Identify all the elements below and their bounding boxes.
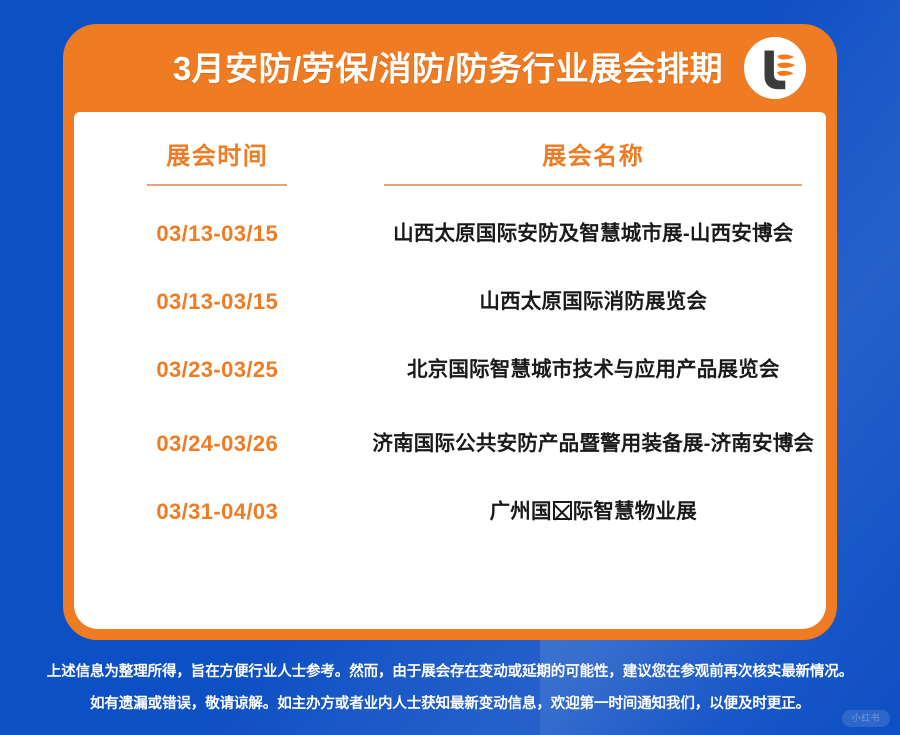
cell-date: 03/13-03/15 bbox=[74, 271, 361, 333]
table-row: 03/23-03/25 北京国际智慧城市技术与应用产品展览会 bbox=[74, 333, 826, 407]
cell-name: 山西太原国际安防及智慧城市展-山西安博会 bbox=[361, 197, 827, 271]
watermark: 小红书 bbox=[842, 710, 890, 727]
cell-name: 济南国际公共安防产品暨警用装备展-济南安博会 bbox=[361, 407, 827, 481]
footer-line-1: 上述信息为整理所得，旨在方便行业人士参考。然而，由于展会存在变动或延期的可能性，… bbox=[10, 665, 890, 681]
table-row: 03/13-03/15 山西太原国际消防展览会 bbox=[74, 271, 826, 333]
cell-name-text: 山西太原国际安防及智慧城市展-山西安博会 bbox=[393, 222, 793, 245]
page-title: 3月安防/劳保/消防/防务行业展会排期 bbox=[173, 52, 723, 85]
schedule-card: 3月安防/劳保/消防/防务行业展会排期 bbox=[63, 24, 837, 640]
column-header-name-label: 展会名称 bbox=[361, 142, 827, 172]
cell-date: 03/23-03/25 bbox=[74, 333, 361, 407]
schedule-table-body: 03/13-03/15 山西太原国际安防及智慧城市展-山西安博会 03/13-0… bbox=[74, 197, 826, 543]
cell-date: 03/31-04/03 bbox=[74, 481, 361, 543]
column-header-name: 展会名称 bbox=[361, 112, 827, 197]
schedule-table-head: 展会时间 展会名称 bbox=[74, 112, 826, 197]
cell-name: 广州国际智慧物业展 bbox=[361, 481, 827, 543]
cell-name-text: 北京国际智慧城市技术与应用产品展览会 bbox=[407, 358, 780, 381]
card-header: 3月安防/劳保/消防/防务行业展会排期 bbox=[74, 24, 826, 112]
cell-name: 山西太原国际消防展览会 bbox=[361, 271, 827, 333]
cell-date: 03/24-03/26 bbox=[74, 407, 361, 481]
schedule-panel: 展会时间 展会名称 03/ bbox=[74, 112, 826, 629]
cell-name-text: 济南国际公共安防产品暨警用装备展-济南安博会 bbox=[372, 432, 814, 455]
footer-line-2: 如有遗漏或错误，敬请谅解。如主办方或者业内人士获知最新变动信息，欢迎第一时间通知… bbox=[10, 697, 890, 713]
column-header-name-rule bbox=[384, 184, 802, 186]
column-header-date-rule bbox=[147, 184, 287, 186]
missing-glyph-box bbox=[553, 501, 572, 520]
cell-date: 03/13-03/15 bbox=[74, 197, 361, 271]
table-row: 03/13-03/15 山西太原国际安防及智慧城市展-山西安博会 bbox=[74, 197, 826, 271]
cell-name-text: 山西太原国际消防展览会 bbox=[479, 290, 707, 313]
table-header-row: 展会时间 展会名称 bbox=[74, 112, 826, 197]
poster-canvas: 3月安防/劳保/消防/防务行业展会排期 bbox=[0, 0, 900, 735]
footer-notes: 上述信息为整理所得，旨在方便行业人士参考。然而，由于展会存在变动或延期的可能性，… bbox=[0, 642, 900, 735]
column-header-date-label: 展会时间 bbox=[74, 142, 361, 172]
cell-name: 北京国际智慧城市技术与应用产品展览会 bbox=[361, 333, 827, 407]
schedule-table: 展会时间 展会名称 03/ bbox=[74, 112, 826, 543]
table-row: 03/31-04/03 广州国际智慧物业展 bbox=[74, 481, 826, 543]
column-header-date: 展会时间 bbox=[74, 112, 361, 197]
cell-name-text-tail: 际智慧物业展 bbox=[573, 500, 697, 523]
cell-name-text: 广州国 bbox=[490, 500, 552, 523]
table-row: 03/24-03/26 济南国际公共安防产品暨警用装备展-济南安博会 bbox=[74, 407, 826, 481]
brand-logo-icon bbox=[744, 37, 806, 99]
